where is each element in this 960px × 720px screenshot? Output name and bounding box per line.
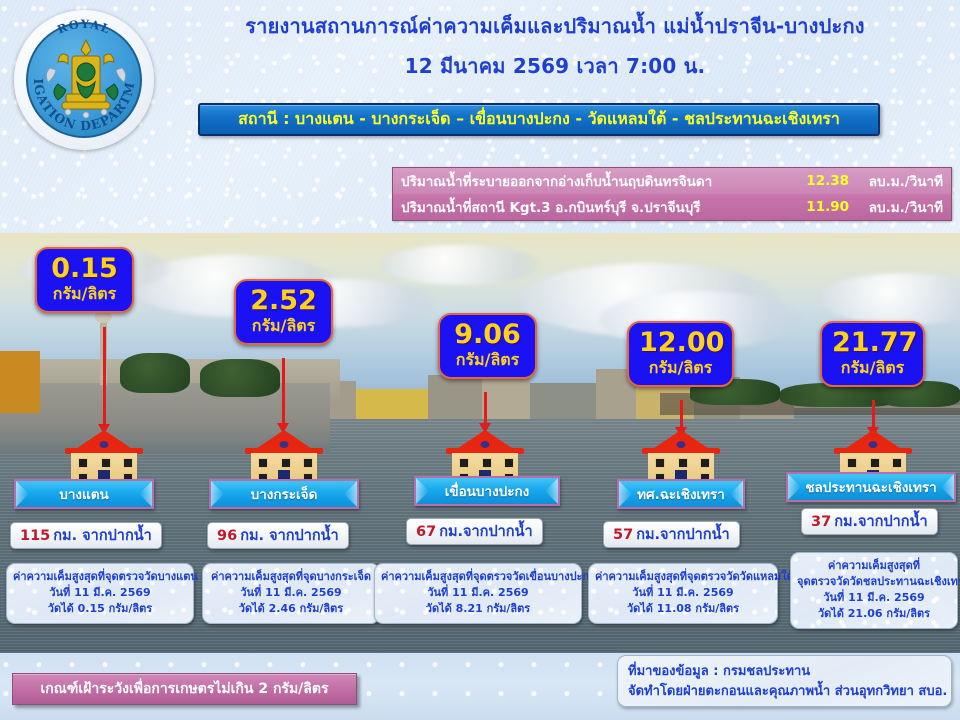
max-salinity-value: วัดได้ 2.46 กรัม/ลิตร (209, 601, 373, 617)
salinity-unit: กรัม/ลิตร (450, 350, 525, 370)
salinity-unit: กรัม/ลิตร (639, 358, 722, 378)
leader-line (680, 400, 683, 428)
salinity-unit: กรัม/ลิตร (47, 284, 122, 304)
distance-chip: 96 กม. จากปากน้ำ (207, 522, 349, 549)
salinity-value: 2.52 (246, 287, 321, 315)
report-page: ROYAL IRRIGATION DEPARTMENT รายงานสถานกา… (0, 0, 960, 720)
leader-line (103, 327, 106, 425)
distance-chip: 37 กม.จากปากน้ำ (801, 508, 938, 535)
discharge-row: ปริมาณน้ำที่สถานี Kgt.3 อ.กบินทร์บุรี จ.… (393, 194, 951, 220)
discharge-value: 12.38 (797, 173, 849, 189)
station-list-label: สถานี : บางแตน - บางกระเจ็ด – เขื่อนบางป… (238, 107, 840, 132)
cloud (380, 245, 540, 285)
max-salinity-title2: จุดตรวจวัดวัดชลประทานฉะเชิงเทรา (797, 574, 951, 590)
station-plate-bangkrajed[interactable]: บางกระเจ็ด (209, 479, 359, 509)
distance-km: 57 (613, 527, 633, 543)
max-salinity-panel: ค่าความเค็มสูงสุดที่จุดบางกระเจ็ด วันที่… (202, 563, 380, 624)
max-salinity-title: ค่าความเค็มสูงสุดที่จุดตรวจวัดบางแตน (13, 569, 187, 585)
station-list-bar: สถานี : บางแตน - บางกระเจ็ด – เขื่อนบางป… (198, 103, 880, 136)
shore-structure (0, 351, 40, 413)
discharge-unit: ลบ.ม./วินาที (849, 196, 943, 218)
salinity-value: 0.15 (47, 255, 122, 283)
max-salinity-title: ค่าความเค็มสูงสุดที่จุดตรวจวัดเขื่อนบางป… (381, 569, 575, 585)
max-salinity-value: วัดได้ 21.06 กรัม/ลิตร (797, 606, 951, 622)
building (428, 375, 482, 419)
discharge-label: ปริมาณน้ำที่สถานี Kgt.3 อ.กบินทร์บุรี จ.… (401, 196, 797, 218)
building (356, 389, 428, 419)
max-salinity-panel: ค่าความเค็มสูงสุดที่จุดตรวจวัดบางแตน วัน… (6, 563, 194, 624)
svg-text:ROYAL: ROYAL (55, 17, 113, 37)
data-source-line2: จัดทำโดยฝ่ายตะกอนและคุณภาพน้ำ ส่วนอุทกวิ… (628, 682, 941, 702)
station-plate-bangpakong-dam[interactable]: เขื่อนบางปะกง (414, 476, 560, 506)
salinity-unit: กรัม/ลิตร (246, 316, 321, 336)
distance-km: 96 (217, 528, 237, 544)
building (530, 383, 596, 419)
max-salinity-value: วัดได้ 11.08 กรัม/ลิตร (595, 601, 771, 617)
distance-text: กม. จากปากน้ำ (240, 524, 339, 547)
station-plate-bangtaen[interactable]: บางแตน (14, 479, 154, 509)
logo-ring-text: ROYAL IRRIGATION DEPARTMENT (14, 10, 154, 150)
max-salinity-value: วัดได้ 0.15 กรัม/ลิตร (13, 601, 187, 617)
max-salinity-date: วันที่ 11 มี.ค. 2569 (13, 585, 187, 601)
agriculture-criteria-bar: เกณฑ์เฝ้าระวังเพื่อการเกษตรไม่เกิน 2 กรั… (12, 673, 357, 705)
royal-irrigation-department-logo: ROYAL IRRIGATION DEPARTMENT (8, 6, 160, 152)
salinity-value: 9.06 (450, 321, 525, 349)
distance-chip: 115 กม. จากปากน้ำ (10, 522, 162, 549)
data-source-line1: ที่มาของข้อมูล : กรมชลประทาน (628, 662, 941, 682)
max-salinity-panel: ค่าความเค็มสูงสุดที่ จุดตรวจวัดวัดชลประท… (790, 552, 958, 629)
max-salinity-title: ค่าความเค็มสูงสุดที่ (797, 558, 951, 574)
distance-text: กม.จากปากน้ำ (834, 510, 927, 533)
distance-km: 37 (811, 514, 831, 530)
salinity-value: 12.00 (639, 329, 722, 357)
data-source-box: ที่มาของข้อมูล : กรมชลประทาน จัดทำโดยฝ่า… (617, 655, 952, 707)
tree-cluster (200, 359, 280, 397)
station-house-icon (245, 430, 323, 486)
salinity-callout: 0.15 กรัม/ลิตร (35, 247, 134, 313)
discharge-value: 11.90 (797, 199, 849, 215)
leader-line (484, 392, 487, 424)
station-plate-label: ทศ.ฉะเชิงเทรา (637, 483, 725, 505)
max-salinity-panel: ค่าความเค็มสูงสุดที่จุดตรวจวัดเขื่อนบางป… (374, 563, 582, 624)
station-plate-thessaban-chachoengsao[interactable]: ทศ.ฉะเชิงเทรา (617, 479, 745, 509)
station-plate-label: บางกระเจ็ด (251, 483, 318, 505)
distance-chip: 57 กม.จากปากน้ำ (603, 521, 740, 548)
discharge-label: ปริมาณน้ำที่ระบายออกจากอ่างเก็บน้ำนฤบดิน… (401, 170, 797, 192)
logo-circle: ROYAL IRRIGATION DEPARTMENT (14, 10, 154, 150)
distance-text: กม. จากปากน้ำ (53, 524, 152, 547)
salinity-value: 21.77 (832, 329, 913, 357)
distance-chip: 67 กม.จากปากน้ำ (406, 518, 543, 545)
max-salinity-title: ค่าความเค็มสูงสุดที่จุดตรวจวัดวัดแหลมใต้ (595, 569, 771, 585)
salinity-callout: 12.00 กรัม/ลิตร (627, 321, 734, 387)
station-plate-label: เขื่อนบางปะกง (445, 480, 530, 502)
max-salinity-title: ค่าความเค็มสูงสุดที่จุดบางกระเจ็ด (209, 569, 373, 585)
discharge-unit: ลบ.ม./วินาที (849, 170, 943, 192)
max-salinity-value: วัดได้ 8.21 กรัม/ลิตร (381, 601, 575, 617)
station-plate-label: ชลประทานฉะเชิงเทรา (805, 476, 936, 498)
discharge-row: ปริมาณน้ำที่ระบายออกจากอ่างเก็บน้ำนฤบดิน… (393, 168, 951, 194)
leader-line (282, 358, 285, 424)
logo-text-top: ROYAL (55, 17, 113, 37)
salinity-callout: 9.06 กรัม/ลิตร (438, 313, 537, 379)
agriculture-criteria-label: เกณฑ์เฝ้าระวังเพื่อการเกษตรไม่เกิน 2 กรั… (41, 678, 329, 700)
station-house-icon (642, 430, 720, 486)
max-salinity-date: วันที่ 11 มี.ค. 2569 (381, 585, 575, 601)
station-house-icon (65, 430, 143, 486)
report-datetime: 12 มีนาคม 2569 เวลา 7:00 น. (160, 50, 950, 82)
max-salinity-date: วันที่ 11 มี.ค. 2569 (797, 590, 951, 606)
distance-km: 115 (20, 528, 50, 544)
max-salinity-panel: ค่าความเค็มสูงสุดที่จุดตรวจวัดวัดแหลมใต้… (588, 563, 778, 624)
station-plate-chonprathan-chachoengsao[interactable]: ชลประทานฉะเชิงเทรา (786, 472, 956, 502)
tree-cluster (120, 353, 190, 393)
salinity-callout: 2.52 กรัม/ลิตร (234, 279, 333, 345)
max-salinity-date: วันที่ 11 มี.ค. 2569 (595, 585, 771, 601)
report-title: รายงานสถานการณ์ค่าความเค็มและปริมาณน้ำ แ… (160, 10, 950, 42)
salinity-unit: กรัม/ลิตร (832, 358, 913, 378)
distance-km: 67 (416, 524, 436, 540)
salinity-callout: 21.77 กรัม/ลิตร (820, 321, 925, 387)
leader-line (872, 400, 875, 428)
max-salinity-date: วันที่ 11 มี.ค. 2569 (209, 585, 373, 601)
distance-text: กม.จากปากน้ำ (439, 520, 532, 543)
distance-text: กม.จากปากน้ำ (636, 523, 729, 546)
station-plate-label: บางแตน (59, 483, 108, 505)
discharge-table: ปริมาณน้ำที่ระบายออกจากอ่างเก็บน้ำนฤบดิน… (392, 167, 952, 221)
